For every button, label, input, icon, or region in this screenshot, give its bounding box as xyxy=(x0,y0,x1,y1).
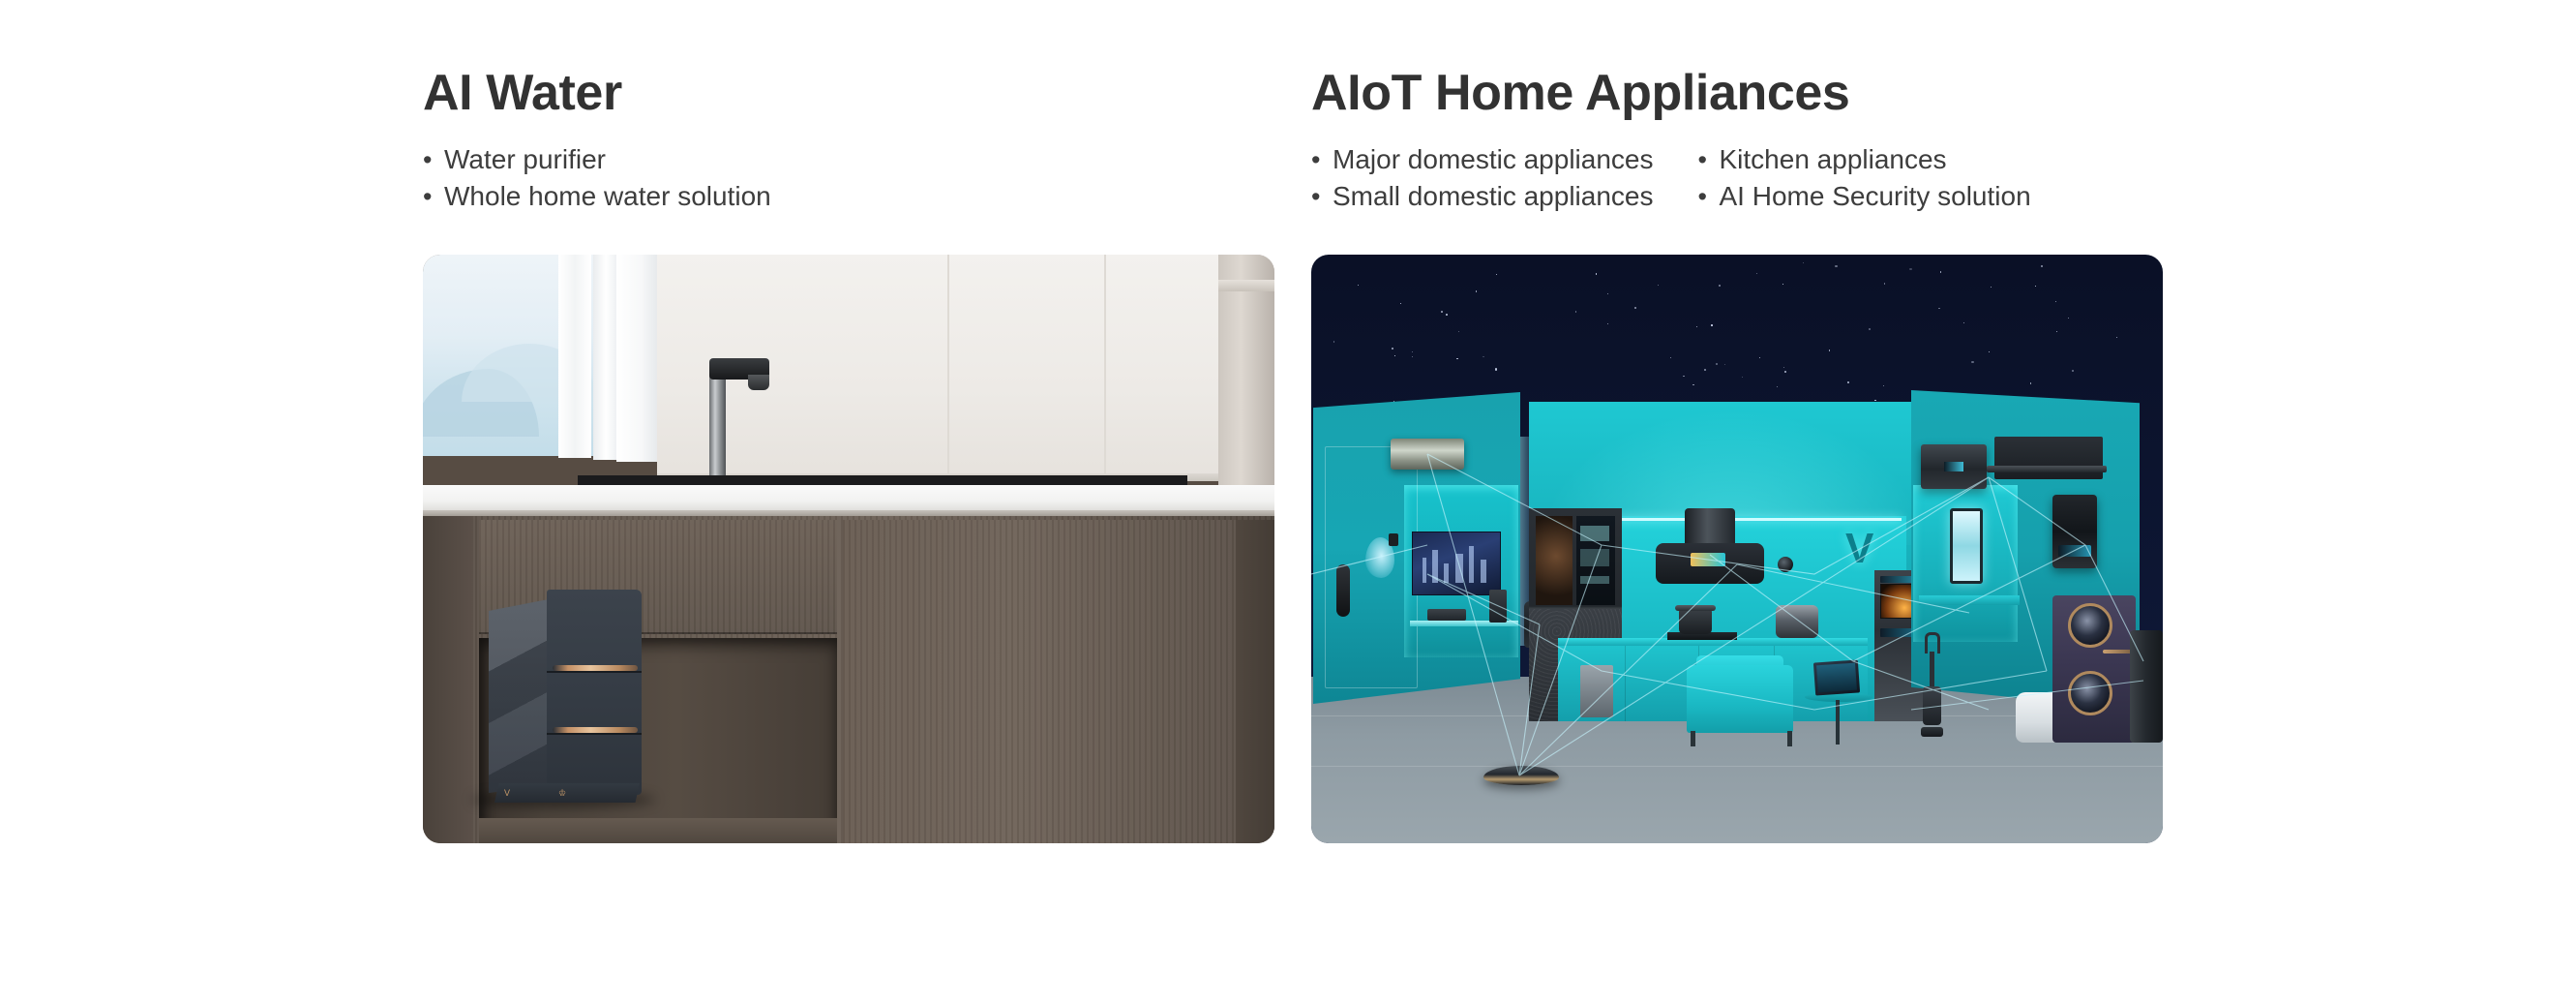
list-item: • AI Home Security solution xyxy=(1698,180,2031,217)
purifier-drawer-gap xyxy=(547,733,642,735)
list-item-label: Water purifier xyxy=(444,143,606,176)
water-purifier-device: V ♔ xyxy=(489,590,642,801)
sheer-curtain xyxy=(593,255,618,460)
faucet-column xyxy=(709,366,726,490)
list-item-label: Whole home water solution xyxy=(444,180,771,213)
list-item-label: Small domestic appliances xyxy=(1333,180,1654,213)
image-ai-water-kitchen: V ♔ xyxy=(423,255,1274,843)
list-item: • Water purifier xyxy=(423,143,771,180)
purifier-front-face xyxy=(547,590,642,795)
wall-column-trim xyxy=(1218,280,1274,291)
slide-canvas: AI Water • Water purifier • Whole home w… xyxy=(0,0,2576,1003)
purifier-faceted-panel xyxy=(489,599,549,793)
cabinet-door-right xyxy=(843,520,1274,843)
page-title-ai-water: AI Water xyxy=(423,68,622,118)
alcove-floor xyxy=(479,818,837,843)
brand-mark-icon: ♔ xyxy=(558,789,566,798)
list-item-label: Major domestic appliances xyxy=(1333,143,1654,176)
bullet-dot-icon: • xyxy=(1698,184,1720,210)
list-item-label: AI Home Security solution xyxy=(1720,180,2031,213)
list-item: • Kitchen appliances xyxy=(1698,143,2031,180)
bullet-list-ai-water: • Water purifier • Whole home water solu… xyxy=(423,143,771,217)
list-item: • Major domestic appliances xyxy=(1311,143,1654,180)
image-aiot-smart-home: V xyxy=(1311,255,2163,843)
purifier-handle-copper xyxy=(553,727,638,733)
sheer-curtain xyxy=(616,255,657,462)
cabinet-side-panel-left xyxy=(423,516,473,843)
bullet-group-secondary: • Kitchen appliances • AI Home Security … xyxy=(1698,143,2031,217)
bullet-dot-icon: • xyxy=(1698,147,1720,173)
brand-logo-icon: V xyxy=(504,789,510,798)
faucet-spout xyxy=(748,375,769,390)
bullet-dot-icon: • xyxy=(423,184,444,210)
list-item: • Small domestic appliances xyxy=(1311,180,1654,217)
page-title-aiot: AIoT Home Appliances xyxy=(1311,68,1849,118)
list-item-label: Kitchen appliances xyxy=(1720,143,1947,176)
bullet-dot-icon: • xyxy=(1311,147,1333,173)
purifier-drawer-gap xyxy=(547,671,642,673)
bullet-group-primary: • Major domestic appliances • Small dome… xyxy=(1311,143,1654,217)
bullet-dot-icon: • xyxy=(1311,184,1333,210)
bullet-list-aiot: • Major domestic appliances • Small dome… xyxy=(1311,143,2031,217)
cabinet-side-panel-right xyxy=(1236,520,1274,843)
list-item: • Whole home water solution xyxy=(423,180,771,217)
bullet-dot-icon: • xyxy=(423,147,444,173)
purifier-base xyxy=(494,783,640,803)
purifier-handle-copper xyxy=(553,665,638,671)
sheer-curtain xyxy=(558,255,591,458)
iot-connection-beams xyxy=(1311,255,2163,843)
bullet-group: • Water purifier • Whole home water solu… xyxy=(423,143,771,217)
